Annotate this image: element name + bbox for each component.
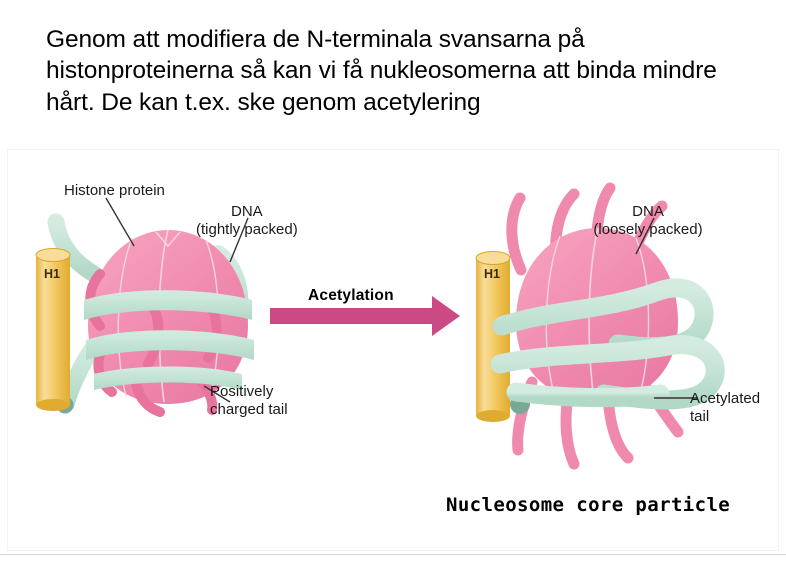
left-dna-wraps	[84, 290, 254, 390]
h1-bottom-cap	[36, 399, 70, 411]
label-histone-protein: Histone protein	[64, 182, 165, 200]
label-dna-loose-line1: DNA	[593, 203, 702, 221]
label-positively-line1: Positively	[210, 383, 288, 401]
title-line-3: hårt. De kan t.ex. ske genom acetylering	[46, 87, 762, 118]
caption-nucleosome-core-particle: Nucleosome core particle	[446, 494, 730, 516]
label-acetylated-line2: tail	[690, 408, 760, 426]
label-acetylation-arrow: Acetylation	[308, 287, 394, 305]
label-dna-tightly-packed: DNA (tightly packed)	[196, 203, 298, 238]
label-dna-loosely-packed: DNA (loosely packed)	[593, 203, 702, 238]
dna-loop-lower	[516, 392, 660, 398]
label-h1-right: H1	[484, 267, 500, 281]
label-dna-tight-line1: DNA	[196, 203, 298, 221]
h1-bottom-cap-right	[476, 410, 510, 422]
label-acetylated-tail: Acetylated tail	[690, 390, 760, 425]
leader-histone-protein	[106, 198, 134, 246]
label-acetylated-line1: Acetylated	[690, 390, 760, 408]
bottom-divider	[0, 554, 786, 555]
label-h1-left: H1	[44, 267, 60, 281]
label-dna-tight-line2: (tightly packed)	[196, 221, 298, 239]
tail-top-1	[512, 198, 521, 270]
h1-body-right	[476, 258, 510, 416]
h1-top-cap	[36, 249, 70, 262]
label-dna-loose-line2: (loosely packed)	[593, 221, 702, 239]
title-line-1: Genom att modifiera de N-terminala svans…	[46, 24, 762, 55]
h1-top-cap-right	[476, 252, 510, 265]
title-line-2: histonproteinerna så kan vi få nukleosom…	[46, 55, 762, 86]
label-positively-charged-tail: Positively charged tail	[210, 383, 288, 418]
slide-title: Genom att modifiera de N-terminala svans…	[46, 24, 762, 118]
slide-canvas: Genom att modifiera de N-terminala svans…	[0, 0, 786, 564]
label-positively-line2: charged tail	[210, 401, 288, 419]
